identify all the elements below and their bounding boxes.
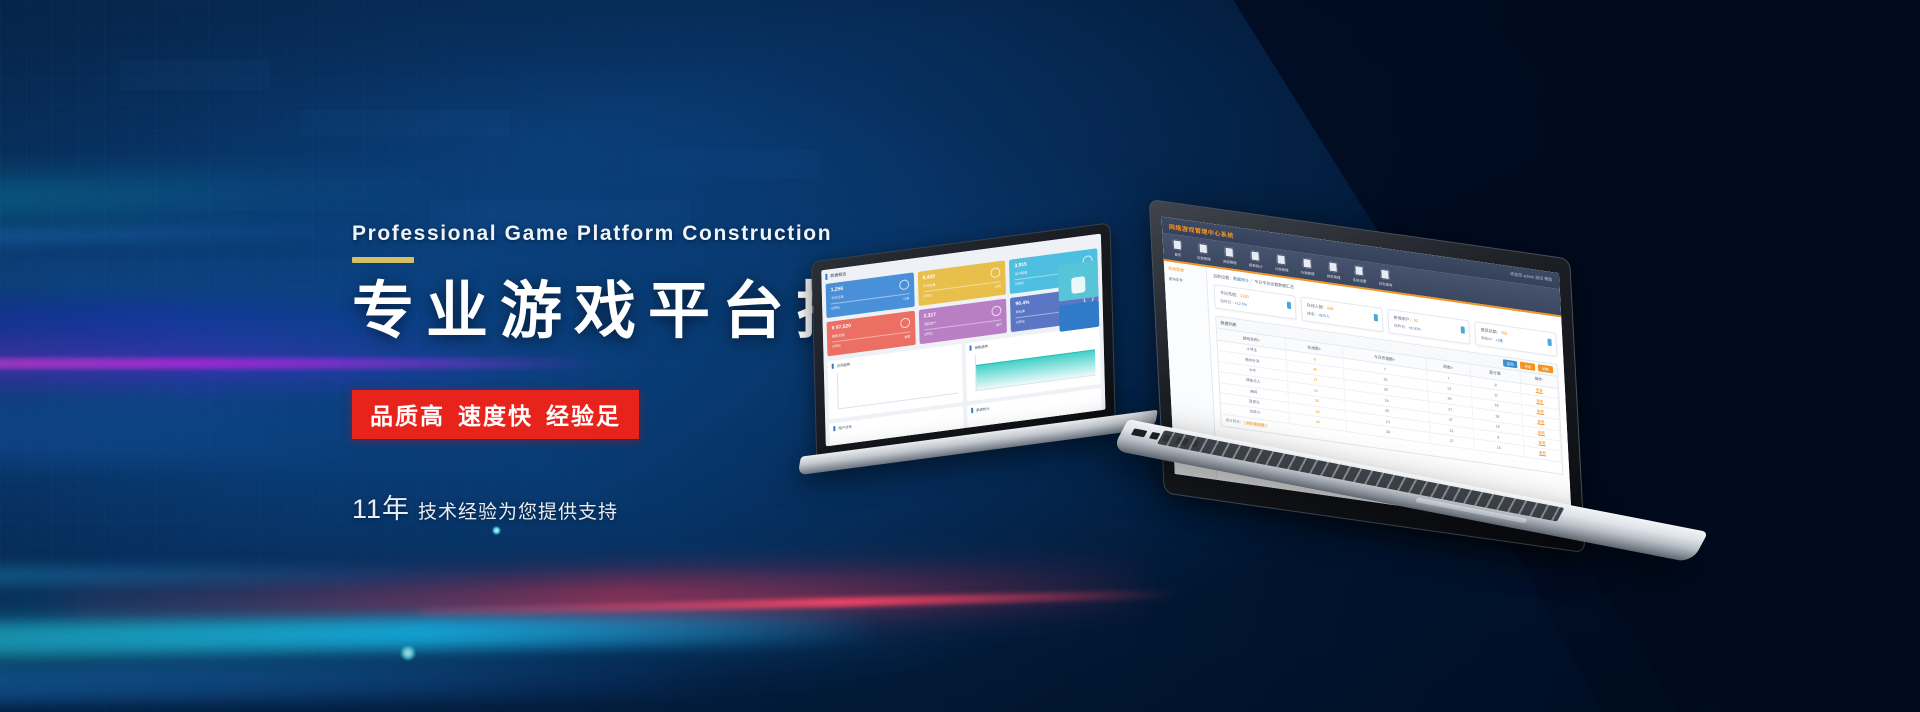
- tile-left: 日环比: [923, 293, 932, 298]
- toolbar-label: 首页: [1169, 250, 1186, 257]
- log-icon: [1380, 268, 1390, 279]
- card-icon: [1287, 302, 1291, 310]
- sort-icon: ▾: [1393, 357, 1395, 361]
- promo-rail: [1058, 260, 1099, 332]
- footer-value: 245 条记录: [1243, 420, 1267, 427]
- badge-part-2: 速度快: [458, 403, 533, 429]
- toolbar-label: 玩家管理: [1195, 254, 1212, 261]
- card-sub-label: 峰值：: [1307, 311, 1318, 317]
- card-label: 今日充值：: [1220, 290, 1240, 298]
- breadcrumb-prefix: 当前位置：: [1213, 273, 1233, 281]
- card-sub-label: 较昨日：: [1394, 324, 1409, 330]
- toolbar-item-report[interactable]: 报表统计: [1246, 249, 1264, 269]
- card-value: 92: [1414, 318, 1419, 324]
- tile-left: 日环比: [924, 331, 933, 336]
- toolbar-item-notice[interactable]: 公告管理: [1272, 253, 1290, 273]
- breadcrumb-link[interactable]: 数据统计: [1233, 276, 1249, 283]
- card-value: 436: [1327, 305, 1334, 311]
- agent-icon: [1302, 257, 1312, 268]
- card-label: 提现总额：: [1480, 327, 1500, 335]
- tile-right: 金额: [904, 334, 910, 339]
- export-button[interactable]: 导出: [1520, 362, 1535, 371]
- sidebar-item[interactable]: 查询条件: [1169, 277, 1203, 287]
- toolbar-item-settings[interactable]: 系统设置: [1350, 264, 1368, 284]
- toolbar-item-recharge[interactable]: 充值管理: [1220, 246, 1238, 266]
- breadcrumb-suffix: ／ 今日平台运营数据汇总: [1249, 278, 1294, 289]
- card-sub-label: 较昨日：: [1220, 299, 1235, 305]
- card-label: 在线人数：: [1307, 302, 1327, 310]
- card-sub-value: +12.5%: [1235, 301, 1247, 307]
- card-sub-label: 审核中：: [1481, 336, 1496, 342]
- finance-icon: [1328, 261, 1338, 272]
- gear-icon: [1354, 265, 1364, 276]
- toolbar-item-finance[interactable]: 财务管理: [1324, 260, 1342, 280]
- sort-icon: ▾: [1258, 338, 1260, 342]
- stat-tile[interactable]: ¥ 67,520 销售总额 日环比金额: [827, 311, 916, 357]
- back-laptop-screen: 数据概览 1,256 今日订单 日环比订单 8,420 访问总量 日环: [821, 234, 1105, 447]
- query-button[interactable]: 查询: [1503, 359, 1518, 368]
- banner-stage: Professional Game Platform Construction …: [0, 0, 1920, 712]
- sort-icon: ▾: [1319, 347, 1321, 351]
- tile-right: 订单: [903, 296, 909, 301]
- card-icon: [1547, 339, 1551, 347]
- front-laptop: 网络游戏管理中心系统 欢迎您 admin 退出 帮助 首页 玩家管理 充值管理 …: [1130, 230, 1690, 530]
- toolbar-label: 系统设置: [1351, 276, 1368, 283]
- tile-left: 日环比: [1015, 281, 1024, 286]
- toolbar-item-log[interactable]: 日志查询: [1376, 268, 1394, 288]
- notice-icon: [1276, 253, 1286, 264]
- user-icon: [1198, 242, 1208, 253]
- stat-card[interactable]: 今日充值：1280 较昨日：+12.5%: [1214, 284, 1297, 320]
- tagline: 11年技术经验为您提供支持: [352, 487, 1052, 526]
- area-series: [976, 349, 1096, 390]
- dashboard-app: 数据概览 1,256 今日订单 日环比订单 8,420 访问总量 日环: [821, 234, 1105, 447]
- toolbar-label: 充值管理: [1221, 258, 1238, 265]
- stat-card[interactable]: 在线人数：436 峰值：+820人: [1300, 296, 1383, 332]
- app-titlebar-right: 欢迎您 admin 退出 帮助: [1510, 271, 1552, 283]
- footer-label: 合计共计：: [1225, 418, 1243, 425]
- toolbar-label: 日志查询: [1377, 280, 1394, 287]
- stat-tile[interactable]: 2,317 活跃用户 日环比用户: [918, 299, 1007, 345]
- tile-right: 用户: [996, 322, 1002, 327]
- toolbar-label: 代理管理: [1299, 269, 1316, 276]
- sidebar-root[interactable]: 系统菜单: [1168, 266, 1202, 277]
- tile-left: 日环比: [831, 305, 840, 310]
- toolbar-item-agent[interactable]: 代理管理: [1298, 257, 1316, 277]
- report-icon: [1250, 250, 1260, 261]
- stat-card[interactable]: 提现总额：765 审核中：+3笔: [1474, 321, 1557, 357]
- tagline-years: 11年: [352, 494, 410, 524]
- badge-part-3: 经验足: [546, 403, 621, 429]
- panel-title: 数据列表: [1220, 320, 1236, 328]
- card-icon: [1461, 326, 1465, 334]
- card-sub-value: +3笔: [1495, 338, 1503, 343]
- promo-card[interactable]: [1058, 260, 1099, 301]
- toolbar-label: 财务管理: [1325, 272, 1342, 279]
- card-label: 新增用户：: [1394, 315, 1414, 323]
- refresh-button[interactable]: 刷新: [1538, 364, 1553, 373]
- page-icon: [1173, 239, 1183, 250]
- coin-icon: [1224, 246, 1234, 257]
- card-value: 765: [1500, 330, 1507, 336]
- toolbar-label: 报表统计: [1247, 261, 1264, 268]
- sort-icon: ▾: [1451, 365, 1453, 369]
- gold-underline: [352, 257, 414, 263]
- eyebrow-text: Professional Game Platform Construction: [352, 222, 1052, 246]
- tile-left: 日环比: [832, 343, 841, 348]
- tagline-text: 技术经验为您提供支持: [418, 502, 618, 523]
- card-value: 1280: [1240, 293, 1249, 299]
- card-icon: [1374, 314, 1378, 322]
- tile-right: 访问: [995, 284, 1001, 289]
- toolbar-item-players[interactable]: 玩家管理: [1194, 242, 1212, 262]
- tile-left: 日环比: [1016, 319, 1025, 324]
- card-sub-value: +8.30%: [1408, 326, 1420, 332]
- status-badge: 品质高速度快经验足: [352, 390, 639, 439]
- badge-part-1: 品质高: [370, 403, 445, 429]
- toolbar-label: 公告管理: [1273, 265, 1290, 272]
- promo-card[interactable]: [1059, 300, 1099, 331]
- card-sub-value: +820人: [1318, 313, 1330, 319]
- toolbar-item-home[interactable]: 首页: [1169, 238, 1187, 258]
- stat-card[interactable]: 新增用户：92 较昨日：+8.30%: [1387, 309, 1470, 345]
